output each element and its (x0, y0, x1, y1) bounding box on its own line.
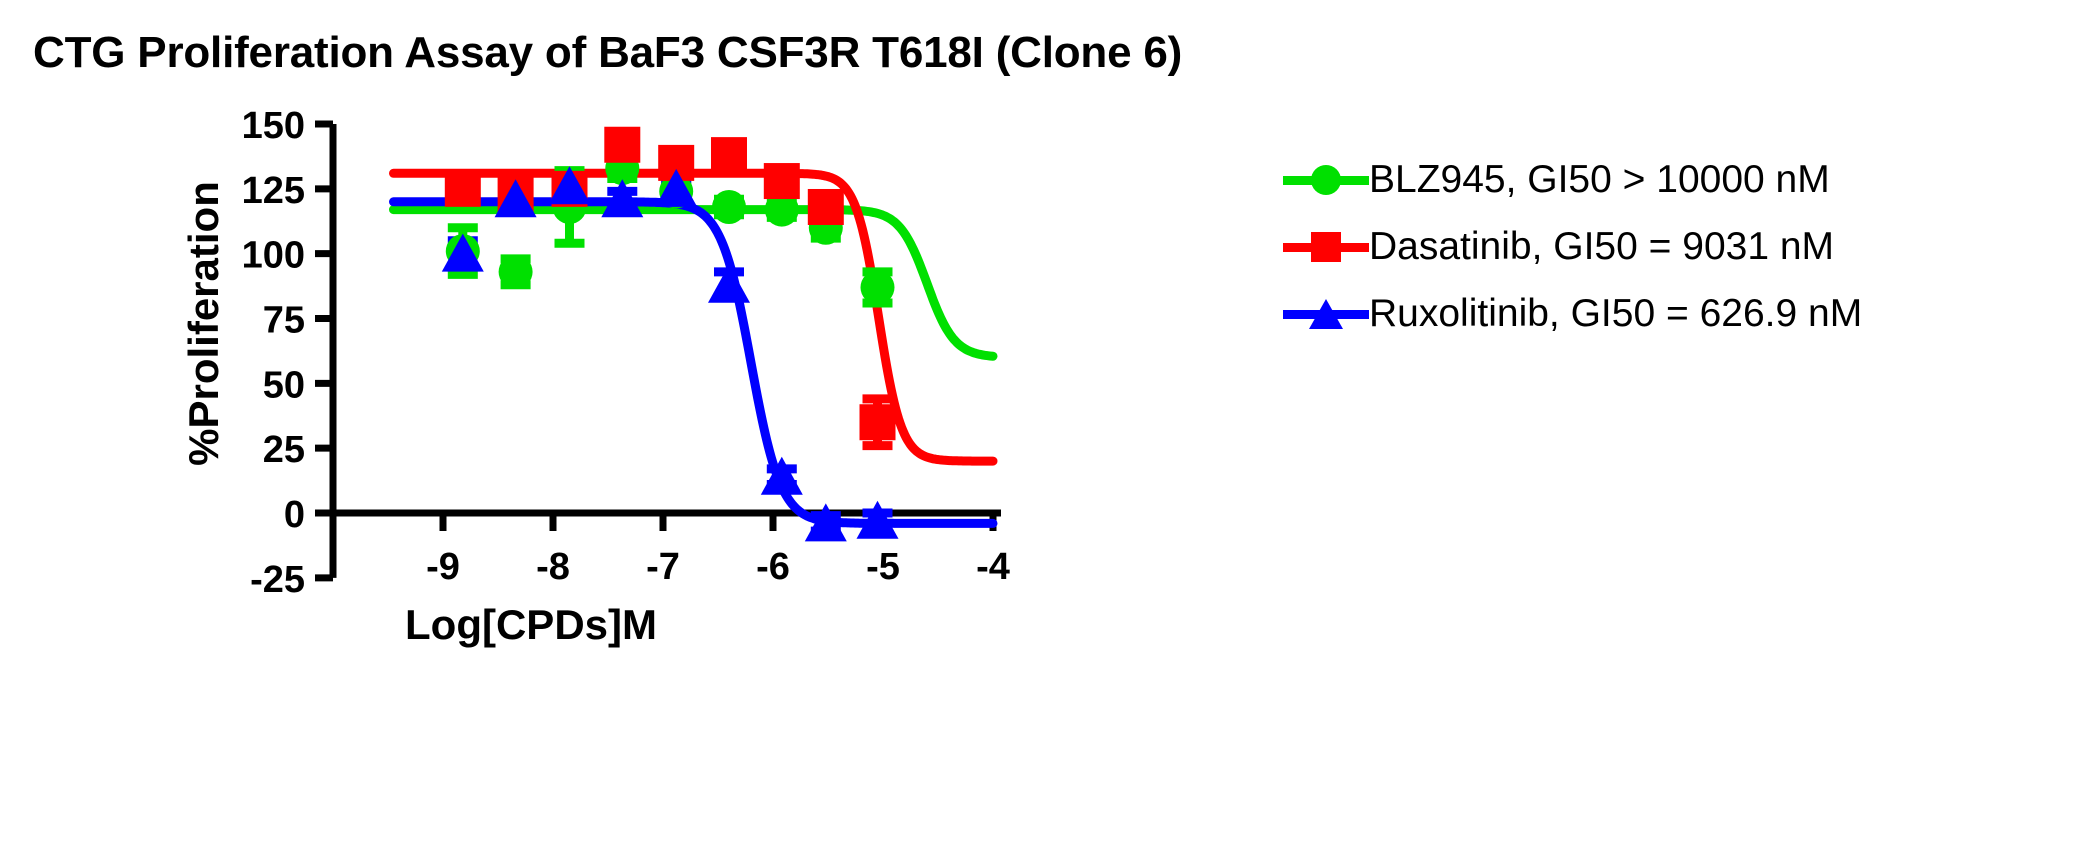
x-tick-label--9: -9 (426, 546, 460, 588)
y-tick-label-75: 75 (263, 300, 305, 342)
y-tick-label-0: 0 (284, 494, 305, 536)
y-tick-label-125: 125 (242, 170, 305, 212)
legend-label-ruxolitinib: Ruxolitinib, GI50 = 626.9 nM (1369, 292, 1862, 336)
plot-svg: -250255075100125150-9-8-7-6-5-4Log[CPDs]… (0, 0, 2078, 867)
x-tick-label--4: -4 (976, 546, 1010, 588)
y-tick-label-25: 25 (263, 429, 305, 471)
legend: BLZ945, GI50 > 10000 nM Dasatinib, GI50 … (1283, 152, 2063, 353)
legend-item-dasatinib[interactable]: Dasatinib, GI50 = 9031 nM (1283, 219, 2063, 275)
x-tick-label--6: -6 (756, 546, 790, 588)
datapoint-0-1 (499, 255, 533, 289)
x-tick-label--5: -5 (866, 546, 900, 588)
legend-item-ruxolitinib[interactable]: Ruxolitinib, GI50 = 626.9 nM (1283, 286, 2063, 342)
legend-item-blz945[interactable]: BLZ945, GI50 > 10000 nM (1283, 152, 2063, 208)
y-tick-label-100: 100 (242, 235, 305, 277)
datapoint-1-5 (711, 137, 747, 173)
datapoint-1-3 (604, 127, 640, 163)
legend-label-blz945: BLZ945, GI50 > 10000 nM (1369, 158, 1830, 202)
legend-label-dasatinib: Dasatinib, GI50 = 9031 nM (1369, 225, 1834, 269)
curve-2 (394, 202, 994, 524)
x-tick-label--7: -7 (646, 546, 680, 588)
y-tick-label--25: -25 (250, 559, 305, 601)
legend-marker-blz945 (1283, 160, 1369, 200)
datapoint-1-8 (860, 404, 896, 440)
legend-marker-ruxolitinib (1283, 294, 1369, 334)
y-axis-title: %Proliferation (180, 181, 227, 466)
curve-1 (394, 173, 994, 461)
y-tick-label-50: 50 (263, 364, 305, 406)
legend-marker-dasatinib (1283, 227, 1369, 267)
y-tick-label-150: 150 (242, 105, 305, 147)
datapoint-0-8 (861, 270, 895, 304)
curve-0 (394, 210, 994, 357)
x-axis-title: Log[CPDs]M (405, 601, 657, 648)
datapoint-1-7 (808, 189, 844, 225)
plot-area: -250255075100125150-9-8-7-6-5-4Log[CPDs]… (0, 0, 2078, 867)
datapoint-0-5 (712, 190, 746, 224)
datapoint-1-6 (764, 163, 800, 199)
datapoint-2-6 (761, 457, 803, 495)
datapoint-1-0 (445, 171, 481, 207)
chart-root: CTG Proliferation Assay of BaF3 CSF3R T6… (0, 0, 2078, 867)
x-tick-label--8: -8 (536, 546, 570, 588)
